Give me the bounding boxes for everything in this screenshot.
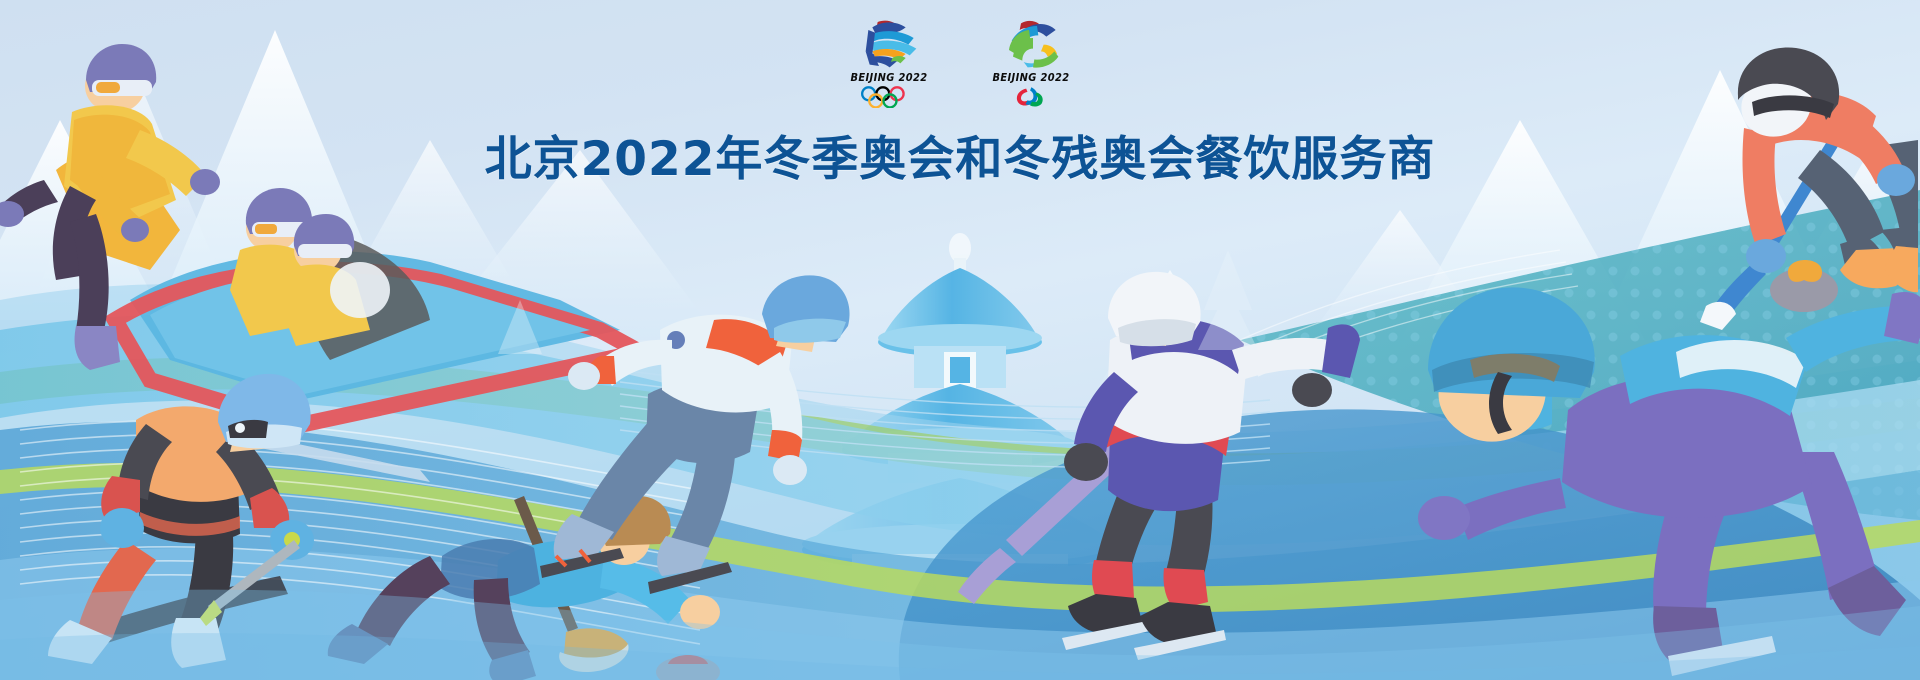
page-title: 北京2022年冬季奥会和冬残奥会餐饮服务商 (485, 120, 1436, 189)
olympic-wordmark: BEIJING 2022 (850, 72, 927, 84)
banner-header: BEIJING 2022 (0, 18, 1920, 189)
olympic-rings-icon (857, 86, 922, 108)
olympic-banner: BEIJING 2022 (0, 0, 1920, 680)
paralympic-agitos-icon (999, 86, 1064, 108)
paralympic-wordmark: BEIJING 2022 (992, 72, 1069, 84)
beijing-2022-olympic-logo: BEIJING 2022 (841, 18, 937, 108)
logo-row: BEIJING 2022 (841, 18, 1079, 106)
beijing-2022-paralympic-logo: BEIJING 2022 (983, 18, 1079, 108)
olympic-emblem-icon (852, 18, 926, 70)
paralympic-emblem-icon (994, 18, 1068, 70)
